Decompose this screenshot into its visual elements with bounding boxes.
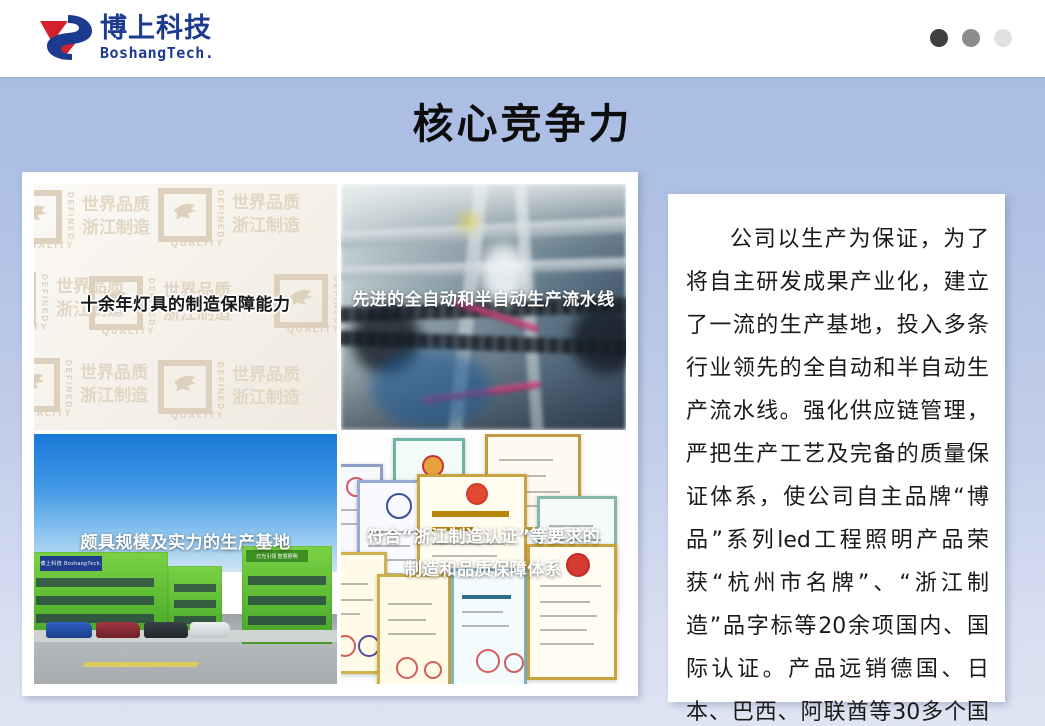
parked-car [46, 622, 92, 638]
quality-seal-icon [34, 190, 62, 244]
quality-seal-icon [158, 360, 212, 414]
brand-name-cn: 博上科技 [100, 14, 214, 44]
road-marking [155, 662, 200, 667]
photo-factory-base[interactable]: 博上科技 BoshangTech. 灯光引领 智慧照明 [34, 434, 337, 684]
watermark-cn-line2: 浙江制造 [232, 215, 300, 238]
photo-production-line[interactable]: 先进的全自动和半自动生产流水线 [341, 184, 626, 430]
dot-mid[interactable] [962, 29, 980, 47]
photo-collage-card: DEFINED 世界品质 浙江制造 DEFINED 世界品质 浙江制造 [22, 172, 638, 696]
watermark-cn-line1: 世界品质 [232, 364, 300, 387]
description-card: 公司以生产为保证，为了将自主研发成果产业化，建立了一流的生产基地，投入多条行业领… [668, 194, 1005, 702]
description-paragraph: 公司以生产为保证，为了将自主研发成果产业化，建立了一流的生产基地，投入多条行业领… [686, 218, 989, 726]
watermark-cn: 世界品质 浙江制造 [82, 194, 150, 240]
page-header: 博上科技 BoshangTech. [0, 0, 1045, 77]
watermark-cn-line2: 浙江制造 [232, 387, 300, 410]
photo-caption-line2: 制造和品质保障体系 [341, 559, 626, 582]
photo-caption: 颇具规模及实力的生产基地 [34, 532, 337, 555]
machine-part [571, 304, 626, 374]
watermark-tile: DEFINED 世界品质 浙江制造 [158, 360, 300, 414]
watermark-cn-line2: 浙江制造 [82, 217, 150, 240]
boshang-logo-mark-icon [38, 13, 94, 63]
page-title: 核心竞争力 [0, 99, 1045, 149]
parked-car [96, 622, 140, 638]
watermark-cn-line2: 浙江制造 [80, 385, 148, 408]
quality-seal-icon [158, 188, 212, 242]
watermark-defined-text: DEFINED [216, 362, 225, 411]
watermark-cn-line1: 世界品质 [80, 362, 148, 385]
watermark-cn: 世界品质 浙江制造 [80, 362, 148, 408]
header-dots-group [930, 29, 1012, 47]
factory-sign-left: 博上科技 BoshangTech. [40, 556, 102, 571]
certificate [377, 574, 451, 684]
watermark-cn-line1: 世界品质 [232, 192, 300, 215]
watermark-cn: 世界品质 浙江制造 [232, 192, 300, 238]
watermark-defined-text: DEFINED [216, 190, 225, 239]
dot-light[interactable] [994, 29, 1012, 47]
brand-logo-text: 博上科技 BoshangTech. [100, 14, 214, 62]
dot-dark[interactable] [930, 29, 948, 47]
brand-logo[interactable]: 博上科技 BoshangTech. [38, 13, 214, 63]
machine-body [371, 349, 491, 427]
indicator-light [461, 214, 477, 230]
parked-car [144, 622, 188, 638]
photo-quality-wall[interactable]: DEFINED 世界品质 浙江制造 DEFINED 世界品质 浙江制造 [34, 184, 337, 430]
watermark-cn: 世界品质 浙江制造 [232, 364, 300, 410]
parked-car [190, 622, 230, 638]
slide-root: 博上科技 BoshangTech. 核心竞争力 DEFINED 世界品质 [0, 0, 1045, 726]
watermark-tile: DEFINED 世界品质 浙江制造 [34, 190, 150, 244]
watermark-tile: DEFINED 世界品质 浙江制造 [34, 358, 148, 412]
watermark-tile: DEFINED 世界品质 浙江制造 [158, 188, 300, 242]
quality-seal-icon [34, 358, 60, 412]
photo-grid: DEFINED 世界品质 浙江制造 DEFINED 世界品质 浙江制造 [34, 184, 626, 684]
photo-caption: 十余年灯具的制造保障能力 [34, 294, 337, 317]
watermark-defined-text: DEFINED [64, 360, 73, 409]
watermark-cn-line1: 世界品质 [82, 194, 150, 217]
certificate [451, 568, 527, 684]
watermark-defined-text: DEFINED [66, 192, 75, 241]
photo-caption: 先进的全自动和半自动生产流水线 [341, 289, 626, 312]
photo-caption-line1: 符合“浙江制造认证”等要求的 [341, 526, 626, 549]
brand-name-en: BoshangTech. [100, 44, 214, 62]
photo-certificates[interactable]: 符合“浙江制造认证”等要求的 制造和品质保障体系 [341, 434, 626, 684]
